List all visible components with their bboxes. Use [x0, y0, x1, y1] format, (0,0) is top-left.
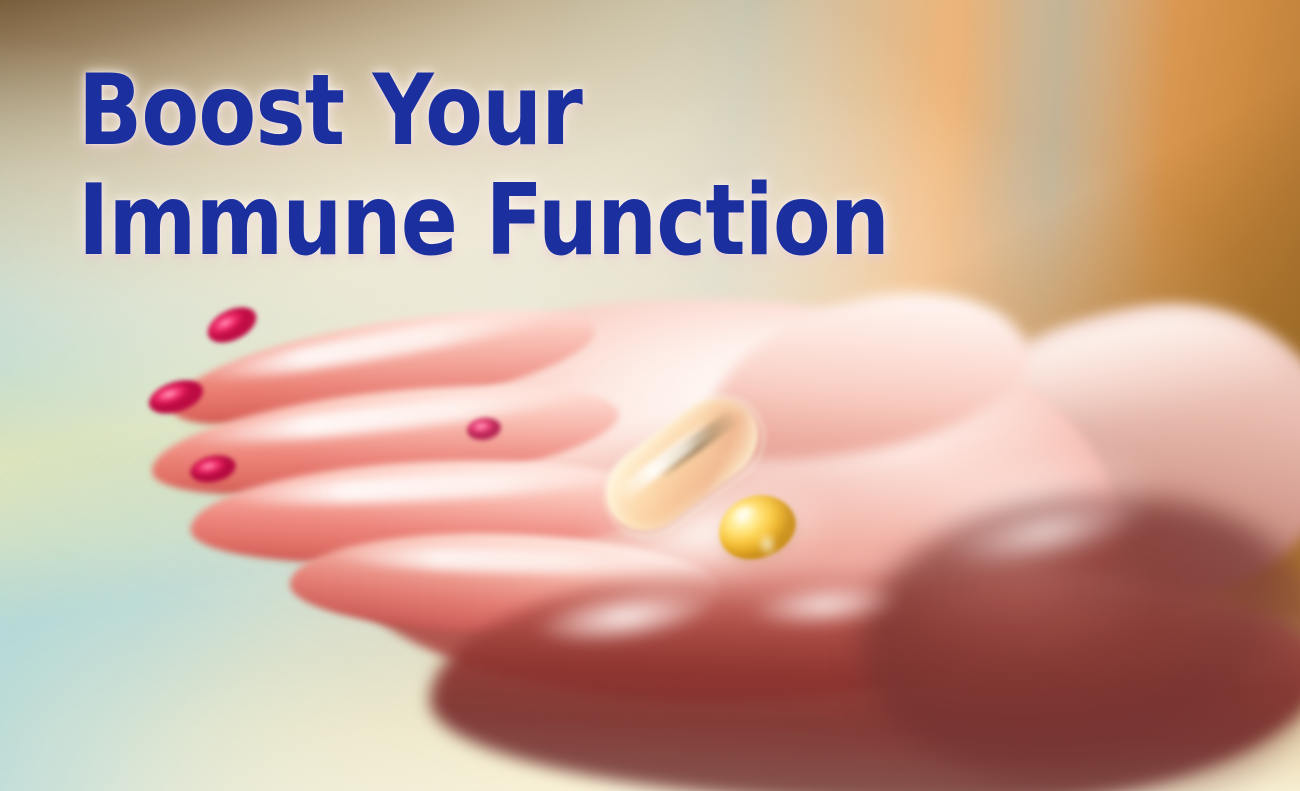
- little-finger: [289, 528, 721, 639]
- fingernail-ring: [188, 452, 238, 487]
- hand-rim-highlight-right: [926, 479, 1163, 586]
- translucent-softgel-capsule-rim: [586, 377, 783, 556]
- palm-highlight: [640, 318, 1060, 488]
- capsule-bed-sheen: [548, 449, 864, 619]
- wrist: [879, 279, 1300, 644]
- palm: [330, 300, 1120, 700]
- golden-softgel-capsule-gloss: [728, 500, 760, 526]
- fingernail-index: [202, 300, 262, 350]
- translucent-softgel-capsule: [589, 380, 775, 547]
- middle-finger: [146, 366, 624, 515]
- wrist-highlight: [942, 292, 1289, 473]
- immune-function-banner: Boost Your Immune Function: [0, 0, 1300, 791]
- index-finger: [164, 286, 603, 447]
- hand-underside-shadow: [430, 556, 1300, 791]
- fingernail-thumb: [466, 416, 503, 443]
- hand-underside-shadow-deep: [860, 500, 1300, 791]
- headline-line-1: Boost Your: [78, 62, 889, 160]
- palm-hollow-shadow: [500, 430, 970, 630]
- translucent-softgel-capsule-gloss: [615, 418, 716, 502]
- fingernail-middle: [145, 374, 208, 420]
- ring-finger-sheen: [226, 464, 627, 511]
- golden-softgel-capsule: [710, 485, 803, 568]
- hand-rim-highlight-center: [738, 575, 911, 636]
- translucent-softgel-capsule-seam: [652, 409, 739, 478]
- index-finger-sheen: [200, 301, 559, 389]
- hand-rim-highlight-left: [517, 574, 733, 661]
- thumb: [687, 265, 1042, 485]
- little-finger-sheen: [330, 544, 671, 577]
- golden-softgel-capsule-gloss-secondary: [753, 528, 780, 560]
- headline-line-2: Immune Function: [78, 172, 889, 270]
- middle-finger-sheen: [188, 381, 588, 452]
- background-bottom-cream-band: [0, 551, 1300, 791]
- ring-finger: [188, 450, 663, 574]
- headline: Boost Your Immune Function: [78, 62, 1021, 270]
- palm-highlight-lower: [868, 406, 1193, 614]
